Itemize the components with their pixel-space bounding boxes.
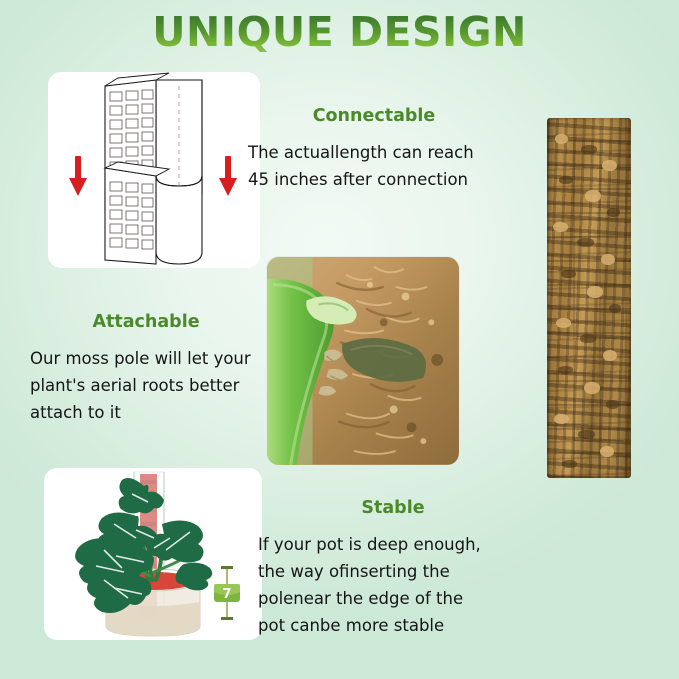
feature-block-connectable: Connectable The actuallength can reach 4… [248,106,500,193]
pole-connection-diagram [48,72,260,268]
potted-plant-card: 7 [44,468,262,640]
feature-body-connectable: The actuallength can reach 45 inches aft… [248,139,500,193]
feature-body-attachable: Our moss pole will let your plant's aeri… [30,345,262,426]
moss-pole-shading [547,118,631,478]
feature-block-attachable: Attachable Our moss pole will let your p… [30,312,262,426]
feature-heading-attachable: Attachable [30,312,262,332]
measurement-badge-7: 7 [214,566,240,620]
svg-text:7: 7 [222,587,231,602]
moss-pole-product-photo [547,118,631,478]
down-arrow-icon [69,156,87,196]
connector-diagram-card [48,72,260,268]
page-title: UNIQUE DESIGN [0,8,679,56]
feature-block-stable: Stable If your pot is deep enough, the w… [258,498,528,639]
aerial-root-closeup-photo [266,256,460,466]
feature-heading-stable: Stable [258,498,528,518]
feature-body-stable: If your pot is deep enough, the way ofin… [258,531,528,639]
down-arrow-icon [219,156,237,196]
monstera-on-moss-pole-diagram: 7 [44,468,262,640]
infographic-canvas: UNIQUE DESIGN [0,0,679,679]
feature-heading-connectable: Connectable [248,106,500,126]
stem-photo-graphic [267,257,459,465]
